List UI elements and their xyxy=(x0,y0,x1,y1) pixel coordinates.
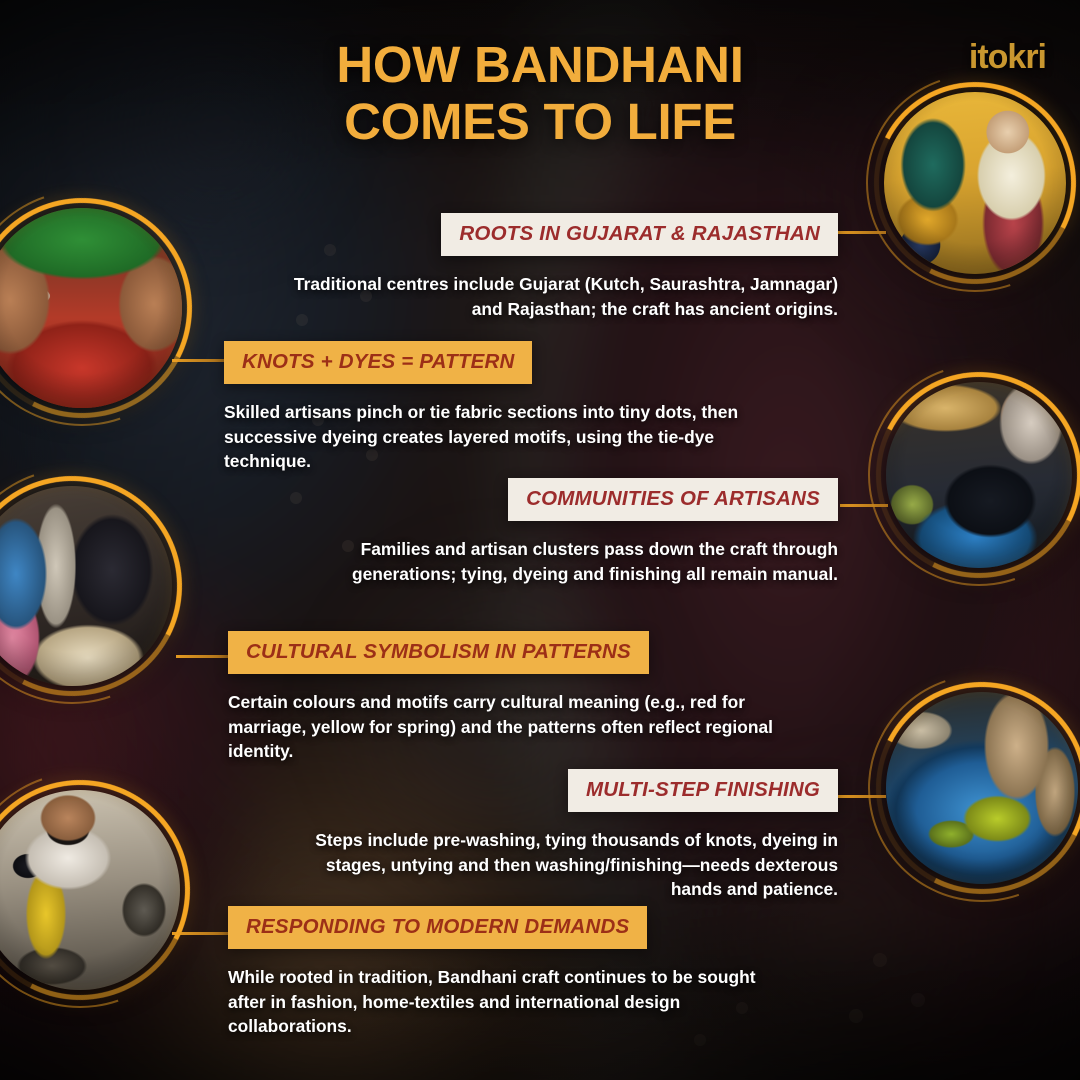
photo-man-lifting-yellow-fabric xyxy=(0,790,180,990)
photo-hands-tying-red-fabric xyxy=(0,208,182,408)
page-title: HOW BANDHANI COMES TO LIFE xyxy=(160,36,920,150)
photo-blue-dye-vat xyxy=(886,692,1078,884)
section-heading-roots: ROOTS IN GUJARAT & RAJASTHAN xyxy=(441,213,838,256)
section-body-communities: Families and artisan clusters pass down … xyxy=(300,537,838,586)
section-body-roots: Traditional centres include Gujarat (Kut… xyxy=(278,272,838,321)
logo-text: itokri xyxy=(969,38,1046,76)
section-finishing: MULTI-STEP FINISHING Steps include pre-w… xyxy=(300,769,838,902)
section-roots: ROOTS IN GUJARAT & RAJASTHAN Traditional… xyxy=(278,213,838,321)
connector-modern xyxy=(172,932,228,935)
infographic-canvas: HOW BANDHANI COMES TO LIFE itokri xyxy=(0,0,1080,1080)
section-modern: RESPONDING TO MODERN DEMANDS While roote… xyxy=(228,906,788,1039)
connector-finishing xyxy=(838,795,886,798)
section-body-knots: Skilled artisans pinch or tie fabric sec… xyxy=(224,400,764,474)
section-communities: COMMUNITIES OF ARTISANS Families and art… xyxy=(300,478,838,586)
section-heading-modern: RESPONDING TO MODERN DEMANDS xyxy=(228,906,647,949)
connector-communities xyxy=(840,504,888,507)
section-heading-communities: COMMUNITIES OF ARTISANS xyxy=(508,478,838,521)
section-heading-finishing: MULTI-STEP FINISHING xyxy=(568,769,838,812)
connector-symbolism xyxy=(176,655,228,658)
section-heading-knots: KNOTS + DYES = PATTERN xyxy=(224,341,532,384)
title-line-1: HOW BANDHANI xyxy=(336,36,743,93)
photo-artisan-cluster xyxy=(0,486,172,686)
itokri-logo[interactable]: itokri xyxy=(969,38,1046,77)
photo-dyer-blue-vat xyxy=(886,382,1072,568)
section-body-finishing: Steps include pre-washing, tying thousan… xyxy=(300,828,838,902)
photo-women-tying-knots xyxy=(884,92,1066,274)
section-body-modern: While rooted in tradition, Bandhani craf… xyxy=(228,965,788,1039)
title-line-2: COMES TO LIFE xyxy=(160,93,920,150)
connector-knots xyxy=(172,359,224,362)
section-body-symbolism: Certain colours and motifs carry cultura… xyxy=(228,690,773,764)
section-symbolism: CULTURAL SYMBOLISM IN PATTERNS Certain c… xyxy=(228,631,773,764)
section-knots: KNOTS + DYES = PATTERN Skilled artisans … xyxy=(224,341,764,474)
connector-roots xyxy=(838,231,886,234)
section-heading-symbolism: CULTURAL SYMBOLISM IN PATTERNS xyxy=(228,631,649,674)
